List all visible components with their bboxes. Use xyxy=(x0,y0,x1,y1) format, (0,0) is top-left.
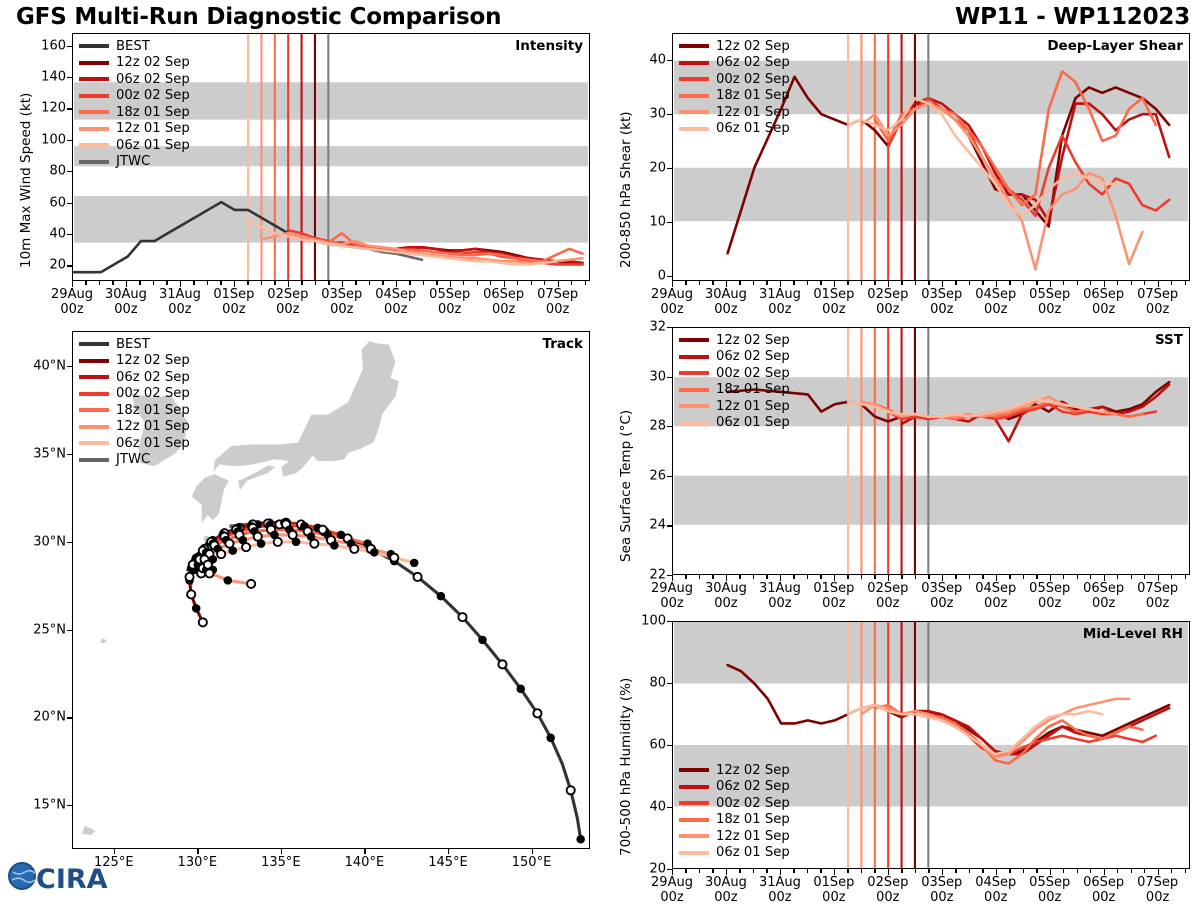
axis-tick xyxy=(1050,575,1051,581)
legend-entry: 06z 02 Sep xyxy=(679,349,790,366)
axis-date-label: 29Aug xyxy=(651,581,693,596)
axis-tick xyxy=(274,281,275,285)
axis-tick-label: 80 xyxy=(24,164,66,179)
axis-tick xyxy=(364,849,365,854)
legend-swatch xyxy=(679,355,709,359)
axis-tick xyxy=(281,849,282,854)
axis-tick-label: 0 xyxy=(624,268,666,283)
panel-shear: Deep-Layer Shear 12z 02 Sep06z 02 Sep00z… xyxy=(672,33,1190,281)
axis-tick xyxy=(753,869,754,873)
axis-tick xyxy=(1144,869,1145,873)
axis-tick-label: 01Sep00z xyxy=(813,288,854,317)
axis-tick xyxy=(1117,575,1118,579)
axis-tick xyxy=(888,575,889,581)
axis-tick xyxy=(67,77,72,78)
axis-tick xyxy=(1104,575,1105,581)
axis-tick-label: 06Sep00z xyxy=(1083,288,1124,317)
axis-hour-label: 00z xyxy=(276,302,299,317)
axis-tick xyxy=(793,869,794,873)
legend-swatch xyxy=(679,371,709,375)
axis-tick-label: 60 xyxy=(24,195,66,210)
axis-tick xyxy=(982,575,983,579)
legend-entry: 06z 02 Sep xyxy=(679,55,790,72)
legend-entry: 06z 01 Sep xyxy=(679,845,790,862)
legend-entry: 06z 01 Sep xyxy=(79,435,190,452)
storm-identifier: WP11 - WP112023 xyxy=(955,4,1190,30)
legend-label: 12z 02 Sep xyxy=(716,763,790,778)
axis-tick xyxy=(1090,869,1091,873)
axis-tick-label: 07Sep00z xyxy=(1137,288,1178,317)
legend-swatch xyxy=(79,77,109,81)
legend-label: 00z 02 Sep xyxy=(716,72,790,87)
legend-entry: 12z 01 Sep xyxy=(679,398,790,415)
axis-date-label: 02Sep xyxy=(267,287,308,302)
axis-date-label: 02Sep xyxy=(867,287,908,302)
axis-date-label: 03Sep xyxy=(921,287,962,302)
axis-tick xyxy=(982,281,983,285)
axis-hour-label: 00z xyxy=(714,596,737,611)
axis-tick-label: 140 xyxy=(24,69,66,84)
axis-tick xyxy=(955,575,956,579)
axis-tick-label: 03Sep00z xyxy=(321,288,362,317)
axis-tick xyxy=(1023,869,1024,873)
map-lat-label: 25°N xyxy=(10,622,66,637)
axis-hour-label: 00z xyxy=(60,302,83,317)
axis-hour-label: 00z xyxy=(768,302,791,317)
legend-label: 06z 01 Sep xyxy=(116,138,190,153)
axis-tick-label: 01Sep00z xyxy=(813,876,854,905)
axis-tick xyxy=(699,575,700,579)
legend-label: 00z 02 Sep xyxy=(716,796,790,811)
axis-tick-label: 20 xyxy=(24,258,66,273)
legend-label: 00z 02 Sep xyxy=(116,88,190,103)
axis-tick xyxy=(67,454,72,455)
axis-tick xyxy=(667,60,672,61)
axis-tick xyxy=(436,281,437,285)
axis-hour-label: 00z xyxy=(438,302,461,317)
axis-tick xyxy=(915,281,916,285)
axis-tick xyxy=(901,281,902,285)
legend-label: 06z 02 Sep xyxy=(716,349,790,364)
axis-tick-label: 100 xyxy=(624,614,666,629)
axis-date-label: 30Aug xyxy=(105,287,147,302)
legend-entry: 12z 02 Sep xyxy=(679,332,790,349)
legend-entry: 18z 01 Sep xyxy=(79,104,190,121)
axis-tick xyxy=(726,281,727,287)
legend-swatch xyxy=(79,143,109,147)
track-legend: BEST12z 02 Sep06z 02 Sep00z 02 Sep18z 01… xyxy=(79,336,190,468)
axis-tick xyxy=(180,281,181,287)
legend-swatch xyxy=(679,801,709,805)
legend-entry: 00z 02 Sep xyxy=(679,795,790,812)
legend-entry: 12z 02 Sep xyxy=(679,762,790,779)
axis-tick xyxy=(685,281,686,285)
axis-hour-label: 00z xyxy=(660,302,683,317)
axis-tick xyxy=(672,281,673,287)
legend-label: 06z 01 Sep xyxy=(716,415,790,430)
legend-entry: 00z 02 Sep xyxy=(79,386,190,403)
axis-tick xyxy=(112,281,113,285)
map-lon-label: 140°E xyxy=(345,856,385,871)
axis-date-label: 06Sep xyxy=(1083,875,1124,890)
axis-tick xyxy=(67,203,72,204)
legend-swatch xyxy=(679,834,709,838)
legend-label: 12z 01 Sep xyxy=(116,419,190,434)
sst-panel-tag: SST xyxy=(1155,332,1183,348)
legend-swatch xyxy=(679,785,709,789)
axis-tick xyxy=(423,281,424,285)
legend-swatch xyxy=(679,818,709,822)
legend-label: 06z 01 Sep xyxy=(116,436,190,451)
axis-tick xyxy=(504,281,505,287)
rh-y-axis-label: 700-500 hPa Humidity (%) xyxy=(618,678,634,856)
axis-tick xyxy=(793,575,794,579)
legend-swatch xyxy=(679,44,709,48)
legend-label: 06z 01 Sep xyxy=(716,121,790,136)
axis-tick-label: 06Sep00z xyxy=(1083,582,1124,611)
legend-entry: 06z 01 Sep xyxy=(679,121,790,138)
axis-tick xyxy=(1144,575,1145,579)
rh-legend: 12z 02 Sep06z 02 Sep00z 02 Sep18z 01 Sep… xyxy=(679,762,790,861)
axis-date-label: 29Aug xyxy=(51,287,93,302)
legend-entry: 06z 01 Sep xyxy=(679,415,790,432)
axis-tick xyxy=(739,281,740,285)
axis-tick-label: 30 xyxy=(624,106,666,121)
axis-hour-label: 00z xyxy=(984,302,1007,317)
axis-hour-label: 00z xyxy=(384,302,407,317)
axis-date-label: 05Sep xyxy=(1029,287,1070,302)
axis-tick xyxy=(807,575,808,579)
legend-entry: 18z 01 Sep xyxy=(79,402,190,419)
axis-tick-label: 31Aug00z xyxy=(759,876,801,905)
axis-tick-label: 32 xyxy=(624,320,666,335)
axis-tick-label: 04Sep00z xyxy=(375,288,416,317)
legend-entry: 12z 01 Sep xyxy=(79,121,190,138)
axis-tick xyxy=(793,281,794,285)
legend-label: 12z 02 Sep xyxy=(116,353,190,368)
axis-date-label: 01Sep xyxy=(813,287,854,302)
axis-tick xyxy=(726,869,727,875)
axis-hour-label: 00z xyxy=(168,302,191,317)
legend-label: 06z 02 Sep xyxy=(116,72,190,87)
axis-tick-label: 60 xyxy=(624,738,666,753)
axis-tick xyxy=(712,281,713,285)
axis-tick xyxy=(820,575,821,579)
axis-hour-label: 00z xyxy=(1146,596,1169,611)
axis-tick-label: 29Aug00z xyxy=(651,876,693,905)
axis-tick xyxy=(67,140,72,141)
axis-date-label: 04Sep xyxy=(975,875,1016,890)
legend-swatch xyxy=(79,408,109,412)
map-lat-label: 15°N xyxy=(10,798,66,813)
axis-hour-label: 00z xyxy=(492,302,515,317)
panel-intensity: Intensity BEST12z 02 Sep06z 02 Sep00z 02… xyxy=(72,33,590,281)
axis-tick xyxy=(490,281,491,285)
axis-tick-label: 30Aug00z xyxy=(705,582,747,611)
axis-tick xyxy=(712,575,713,579)
axis-tick xyxy=(220,281,221,285)
legend-label: 06z 02 Sep xyxy=(716,55,790,70)
axis-tick xyxy=(667,683,672,684)
axis-tick xyxy=(726,575,727,581)
axis-tick-label: 29Aug00z xyxy=(651,582,693,611)
axis-tick xyxy=(861,575,862,579)
axis-tick xyxy=(531,281,532,285)
axis-date-label: 05Sep xyxy=(429,287,470,302)
legend-label: BEST xyxy=(116,337,150,352)
axis-tick xyxy=(901,869,902,873)
axis-hour-label: 00z xyxy=(222,302,245,317)
axis-tick-label: 03Sep00z xyxy=(921,582,962,611)
axis-date-label: 01Sep xyxy=(813,875,854,890)
legend-entry: 00z 02 Sep xyxy=(79,88,190,105)
axis-tick xyxy=(667,168,672,169)
legend-swatch xyxy=(679,61,709,65)
axis-tick xyxy=(1158,575,1159,581)
axis-tick xyxy=(667,377,672,378)
axis-hour-label: 00z xyxy=(984,890,1007,905)
axis-tick xyxy=(780,281,781,287)
axis-date-label: 30Aug xyxy=(705,287,747,302)
axis-tick xyxy=(288,281,289,287)
legend-swatch xyxy=(79,61,109,65)
map-lon-label: 135°E xyxy=(261,856,301,871)
axis-tick xyxy=(1131,869,1132,873)
axis-hour-label: 00z xyxy=(714,302,737,317)
axis-tick xyxy=(667,276,672,277)
map-lat-label: 40°N xyxy=(10,359,66,374)
axis-tick xyxy=(1131,281,1132,285)
axis-date-label: 03Sep xyxy=(921,875,962,890)
axis-hour-label: 00z xyxy=(546,302,569,317)
axis-tick xyxy=(463,281,464,285)
shear-legend: 12z 02 Sep06z 02 Sep00z 02 Sep18z 01 Sep… xyxy=(679,38,790,137)
axis-tick xyxy=(982,869,983,873)
axis-tick xyxy=(955,281,956,285)
axis-tick xyxy=(1077,869,1078,873)
legend-entry: 12z 02 Sep xyxy=(79,55,190,72)
axis-tick xyxy=(1036,869,1037,873)
axis-tick-label: 07Sep00z xyxy=(537,288,578,317)
axis-tick xyxy=(1185,575,1186,579)
axis-date-label: 06Sep xyxy=(1083,581,1124,596)
axis-tick xyxy=(1023,281,1024,285)
axis-tick-label: 30Aug00z xyxy=(705,876,747,905)
axis-tick-label: 29Aug00z xyxy=(51,288,93,317)
legend-entry: 18z 01 Sep xyxy=(679,812,790,829)
axis-tick xyxy=(67,234,72,235)
axis-date-label: 31Aug xyxy=(759,581,801,596)
legend-label: 12z 01 Sep xyxy=(716,829,790,844)
legend-swatch xyxy=(679,338,709,342)
legend-entry: 18z 01 Sep xyxy=(679,382,790,399)
legend-entry: 12z 02 Sep xyxy=(79,353,190,370)
legend-entry: 00z 02 Sep xyxy=(679,71,790,88)
axis-tick xyxy=(915,575,916,579)
axis-tick-label: 03Sep00z xyxy=(921,876,962,905)
axis-tick xyxy=(861,281,862,285)
axis-hour-label: 00z xyxy=(822,890,845,905)
axis-tick-label: 24 xyxy=(624,518,666,533)
legend-label: 12z 02 Sep xyxy=(716,333,790,348)
axis-hour-label: 00z xyxy=(876,890,899,905)
legend-label: 18z 01 Sep xyxy=(116,105,190,120)
axis-hour-label: 00z xyxy=(1092,302,1115,317)
axis-tick xyxy=(382,281,383,285)
axis-tick xyxy=(847,575,848,579)
legend-swatch xyxy=(79,127,109,131)
axis-tick-label: 30Aug00z xyxy=(105,288,147,317)
axis-tick xyxy=(1171,575,1172,579)
axis-tick xyxy=(780,869,781,875)
axis-hour-label: 00z xyxy=(768,890,791,905)
axis-tick-label: 05Sep00z xyxy=(1029,876,1070,905)
axis-tick xyxy=(67,171,72,172)
axis-tick xyxy=(820,869,821,873)
axis-date-label: 04Sep xyxy=(375,287,416,302)
legend-swatch xyxy=(679,851,709,855)
axis-tick xyxy=(928,281,929,285)
axis-date-label: 07Sep xyxy=(537,287,578,302)
axis-tick xyxy=(915,869,916,873)
legend-entry: 00z 02 Sep xyxy=(679,365,790,382)
axis-tick xyxy=(67,108,72,109)
legend-label: JTWC xyxy=(116,154,150,169)
axis-tick xyxy=(685,575,686,579)
axis-tick-label: 28 xyxy=(624,419,666,434)
axis-tick xyxy=(139,281,140,285)
axis-tick xyxy=(1036,281,1037,285)
axis-tick xyxy=(448,849,449,854)
axis-tick xyxy=(672,575,673,581)
axis-hour-label: 00z xyxy=(930,302,953,317)
legend-swatch xyxy=(79,441,109,445)
axis-tick xyxy=(834,281,835,287)
shear-panel-tag: Deep-Layer Shear xyxy=(1047,38,1183,54)
axis-tick xyxy=(1185,869,1186,873)
axis-tick xyxy=(699,869,700,873)
intensity-panel-tag: Intensity xyxy=(515,38,583,54)
axis-tick xyxy=(834,575,835,581)
axis-tick xyxy=(67,265,72,266)
axis-tick xyxy=(1104,869,1105,875)
axis-tick-label: 02Sep00z xyxy=(867,582,908,611)
axis-tick xyxy=(207,281,208,285)
axis-tick xyxy=(1158,281,1159,287)
axis-tick xyxy=(928,575,929,579)
legend-label: 06z 01 Sep xyxy=(716,845,790,860)
axis-tick xyxy=(571,281,572,285)
axis-tick-label: 80 xyxy=(624,676,666,691)
legend-label: 12z 02 Sep xyxy=(716,39,790,54)
axis-tick xyxy=(667,807,672,808)
axis-tick xyxy=(1131,575,1132,579)
axis-tick xyxy=(1117,281,1118,285)
legend-label: 18z 01 Sep xyxy=(716,382,790,397)
axis-date-label: 04Sep xyxy=(975,287,1016,302)
axis-tick xyxy=(969,869,970,873)
axis-date-label: 31Aug xyxy=(759,875,801,890)
legend-swatch xyxy=(79,375,109,379)
legend-swatch xyxy=(79,44,109,48)
axis-date-label: 07Sep xyxy=(1137,287,1178,302)
axis-tick-label: 06Sep00z xyxy=(1083,876,1124,905)
axis-tick-label: 29Aug00z xyxy=(651,288,693,317)
axis-tick-label: 05Sep00z xyxy=(1029,288,1070,317)
axis-date-label: 02Sep xyxy=(867,875,908,890)
axis-tick xyxy=(1158,869,1159,875)
legend-entry: 12z 01 Sep xyxy=(679,828,790,845)
axis-tick xyxy=(234,281,235,287)
legend-swatch xyxy=(679,94,709,98)
axis-tick xyxy=(585,281,586,285)
axis-tick-label: 31Aug00z xyxy=(759,288,801,317)
legend-swatch xyxy=(679,404,709,408)
panel-rh: Mid-Level RH 12z 02 Sep06z 02 Sep00z 02 … xyxy=(672,621,1190,869)
axis-tick xyxy=(1117,869,1118,873)
axis-tick xyxy=(753,575,754,579)
axis-tick xyxy=(874,575,875,579)
legend-entry: 12z 01 Sep xyxy=(79,419,190,436)
axis-date-label: 31Aug xyxy=(159,287,201,302)
axis-tick xyxy=(847,281,848,285)
axis-date-label: 05Sep xyxy=(1029,875,1070,890)
axis-tick-label: 100 xyxy=(24,132,66,147)
axis-tick xyxy=(739,575,740,579)
axis-tick xyxy=(739,869,740,873)
axis-tick xyxy=(1185,281,1186,285)
axis-hour-label: 00z xyxy=(1146,302,1169,317)
axis-tick-label: 05Sep00z xyxy=(1029,582,1070,611)
legend-label: 06z 02 Sep xyxy=(716,779,790,794)
axis-tick xyxy=(477,281,478,285)
legend-swatch xyxy=(679,768,709,772)
axis-tick xyxy=(1171,281,1172,285)
axis-tick xyxy=(1009,869,1010,873)
legend-label: JTWC xyxy=(116,452,150,467)
axis-hour-label: 00z xyxy=(876,302,899,317)
axis-tick xyxy=(901,575,902,579)
axis-tick xyxy=(1090,575,1091,579)
axis-tick xyxy=(861,869,862,873)
legend-entry: 06z 02 Sep xyxy=(679,779,790,796)
legend-swatch xyxy=(679,421,709,425)
axis-tick xyxy=(166,281,167,285)
rh-panel-tag: Mid-Level RH xyxy=(1083,626,1183,642)
axis-tick-label: 04Sep00z xyxy=(975,876,1016,905)
axis-tick xyxy=(712,869,713,873)
axis-date-label: 29Aug xyxy=(651,875,693,890)
axis-tick xyxy=(969,575,970,579)
axis-tick xyxy=(261,281,262,285)
legend-label: 12z 02 Sep xyxy=(116,55,190,70)
axis-date-label: 30Aug xyxy=(705,875,747,890)
cira-logo: CIRA xyxy=(6,854,138,898)
axis-tick xyxy=(1036,575,1037,579)
axis-tick xyxy=(969,281,970,285)
axis-date-label: 07Sep xyxy=(1137,875,1178,890)
axis-tick-label: 40 xyxy=(24,226,66,241)
axis-tick-label: 05Sep00z xyxy=(429,288,470,317)
legend-entry: 06z 02 Sep xyxy=(79,369,190,386)
axis-tick xyxy=(888,869,889,875)
panel-track: Track BEST12z 02 Sep06z 02 Sep00z 02 Sep… xyxy=(72,331,590,849)
axis-hour-label: 00z xyxy=(1146,890,1169,905)
axis-tick xyxy=(685,869,686,873)
map-lat-label: 35°N xyxy=(10,446,66,461)
axis-tick xyxy=(72,281,73,287)
track-panel-tag: Track xyxy=(543,336,583,352)
